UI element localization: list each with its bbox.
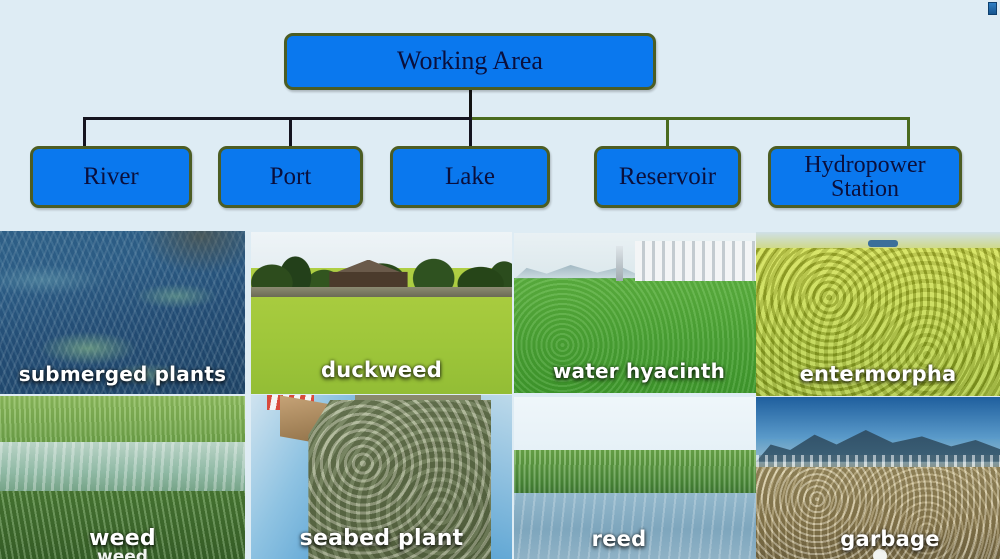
- node-river[interactable]: River: [30, 146, 192, 208]
- photo-cell-entermorpha[interactable]: entermorpha: [756, 232, 1000, 396]
- distant-boat: [868, 240, 897, 247]
- node-port[interactable]: Port: [218, 146, 363, 208]
- photo-cell-seabed-plant[interactable]: seabed plant: [251, 395, 512, 559]
- connector-drop-hydropower-station: [907, 117, 910, 148]
- connector-drop-river: [83, 117, 86, 148]
- node-lake-label: Lake: [445, 164, 495, 190]
- photo-cell-duckweed[interactable]: duckweed: [251, 232, 512, 394]
- photo-caption-entermorpha: entermorpha: [756, 362, 1000, 386]
- grass-bank: [0, 396, 245, 445]
- node-hydropower-station[interactable]: Hydropower Station: [768, 146, 962, 208]
- connector-drop-reservoir: [666, 120, 669, 148]
- node-port-label: Port: [270, 164, 312, 190]
- slide-canvas: Working Area River Port Lake Reservoir H…: [0, 0, 1000, 559]
- node-lake[interactable]: Lake: [390, 146, 550, 208]
- photo-caption-seabed-plant: seabed plant: [251, 526, 512, 551]
- node-reservoir[interactable]: Reservoir: [594, 146, 741, 208]
- reed-bed: [514, 450, 756, 495]
- photo-cell-reed[interactable]: reed: [514, 397, 756, 559]
- node-hydropower-station-label: Hydropower Station: [771, 153, 959, 202]
- photo-caption-reed: reed: [514, 527, 740, 551]
- photo-caption-submerged-plants: submerged plants: [0, 362, 245, 386]
- shore-wall: [251, 287, 512, 297]
- tower-structure: [616, 246, 623, 281]
- photo-gallery: submerged plants duckweed water hyacinth: [0, 231, 1000, 559]
- connector-root-vertical: [469, 90, 472, 118]
- node-working-area-label: Working Area: [397, 48, 543, 75]
- waterfront-building: [635, 241, 756, 281]
- connector-horizontal-right: [469, 117, 910, 120]
- node-river-label: River: [83, 164, 139, 190]
- connector-horizontal-left: [83, 117, 471, 120]
- photo-cell-garbage[interactable]: garbage: [756, 397, 1000, 559]
- connector-drop-lake: [469, 117, 472, 148]
- photo-caption-duckweed: duckweed: [251, 358, 512, 382]
- connector-drop-port: [289, 120, 292, 148]
- photo-caption-water-hyacinth: water hyacinth: [518, 359, 756, 383]
- node-reservoir-label: Reservoir: [619, 164, 716, 190]
- node-working-area[interactable]: Working Area: [284, 33, 656, 90]
- photo-cell-weed[interactable]: weed weed: [0, 396, 245, 559]
- photo-cell-submerged-plants[interactable]: submerged plants: [0, 231, 245, 394]
- sky-region: [756, 397, 1000, 439]
- water-surface: [0, 442, 245, 497]
- photo-caption-garbage: garbage: [768, 527, 1000, 551]
- working-area-hierarchy-diagram: Working Area River Port Lake Reservoir H…: [0, 0, 1000, 231]
- photo-cell-water-hyacinth[interactable]: water hyacinth: [514, 233, 756, 393]
- photo-caption-weed-secondary: weed: [0, 547, 245, 559]
